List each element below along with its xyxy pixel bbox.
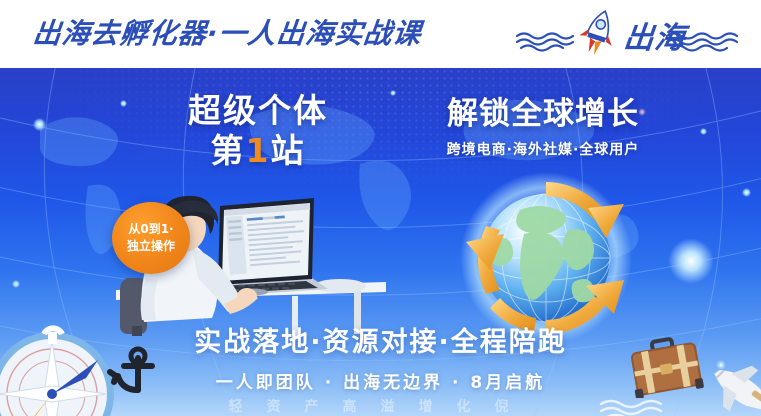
hero-left-headline: 超级个体 第1站: [148, 92, 368, 172]
star-point: [12, 280, 20, 288]
star-point: [120, 100, 127, 107]
footer-line2: 一人即团队 · 出海无边界 · 8月启航: [0, 368, 761, 393]
hero-left-line1: 超级个体: [148, 92, 368, 130]
hero-stage: 超级个体 第1站 从0到1· 独立操作 解锁全球增长 跨境电商·海外社媒·全球用…: [0, 68, 761, 416]
star-point: [700, 128, 707, 135]
footer-line1: 实战落地·资源对接·全程陪跑: [0, 320, 761, 359]
footer-watermark: 轻资产高溢增化倪: [0, 396, 761, 416]
badge-line1: 从0到1·: [128, 221, 173, 238]
glow-point: [668, 238, 714, 284]
wave-lines-icon-right: [666, 30, 738, 52]
hero-right-title: 解锁全球增长: [398, 96, 688, 132]
poster-banner: 出海去孵化器·一人出海实战课 出海: [0, 0, 761, 416]
status-badge: 从0到1· 独立操作: [112, 202, 190, 274]
star-point: [33, 118, 46, 131]
brand-logo[interactable]: 出海: [516, 8, 738, 60]
hero-right-subtitle: 跨境电商·海外社媒·全球用户: [398, 139, 688, 159]
hero-right-headline: 解锁全球增长 跨境电商·海外社媒·全球用户: [398, 96, 688, 159]
star-point: [390, 90, 396, 96]
hero-left-line2-number: 1: [246, 131, 271, 170]
hero-left-line2-prefix: 第: [211, 131, 246, 170]
header-bar: 出海去孵化器·一人出海实战课 出海: [0, 0, 761, 68]
wave-lines-icon: [516, 30, 574, 52]
page-title: 出海去孵化器·一人出海实战课: [31, 12, 424, 52]
hero-left-line2-suffix: 站: [270, 131, 305, 170]
badge-line2: 独立操作: [127, 238, 175, 255]
hero-left-line2: 第1站: [148, 130, 368, 172]
rocket-icon: [578, 8, 618, 58]
star-point: [742, 188, 751, 197]
